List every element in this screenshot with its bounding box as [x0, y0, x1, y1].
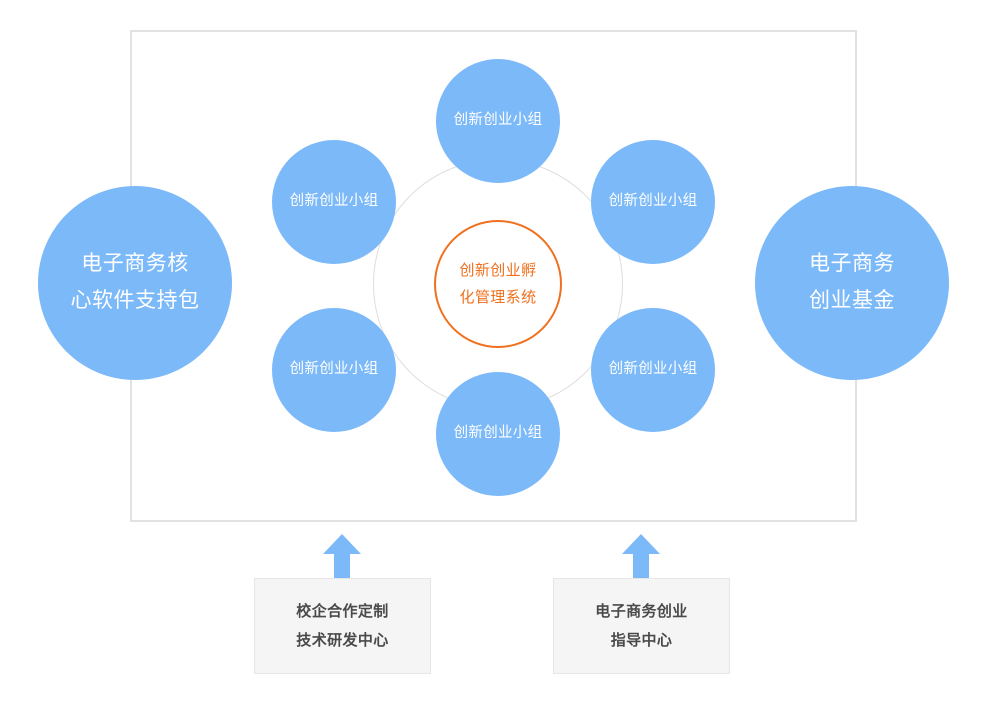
arrow-up-icon-right [622, 534, 660, 580]
diagram-canvas: 创新创业小组 创新创业小组 创新创业小组 创新创业小组 创新创业小组 创新创业小… [0, 0, 991, 705]
rnd-center-label-line2: 技术研发中心 [296, 632, 388, 649]
satellite-node-bottom-left[interactable]: 创新创业小组 [272, 308, 396, 432]
arrow-up-icon-left [323, 534, 361, 580]
satellite-node-top-right[interactable]: 创新创业小组 [591, 140, 715, 264]
rnd-center-box-label: 校企合作定制 技术研发中心 [278, 597, 408, 656]
rnd-center-label-line1: 校企合作定制 [296, 603, 388, 620]
satellite-node-top-left[interactable]: 创新创业小组 [272, 140, 396, 264]
startup-fund-label-line2: 创业基金 [809, 289, 895, 312]
startup-fund-node-label: 电子商务 创业基金 [777, 246, 927, 320]
guidance-center-label-line1: 电子商务创业 [595, 603, 687, 620]
startup-fund-node[interactable]: 电子商务 创业基金 [755, 186, 949, 380]
support-package-label-line1: 电子商务核 [81, 252, 189, 275]
support-package-label-line2: 心软件支持包 [71, 289, 200, 312]
satellite-node-bottom[interactable]: 创新创业小组 [436, 372, 560, 496]
satellite-node-top-right-label: 创新创业小组 [609, 191, 698, 212]
hub-node-label-line2: 化管理系统 [459, 289, 536, 306]
arrow-shaft-right [633, 552, 649, 580]
satellite-node-bottom-right[interactable]: 创新创业小组 [591, 308, 715, 432]
satellite-node-top-label: 创新创业小组 [454, 110, 543, 131]
satellite-node-top-left-label: 创新创业小组 [290, 191, 379, 212]
arrow-shaft-left [334, 552, 350, 580]
rnd-center-box[interactable]: 校企合作定制 技术研发中心 [254, 578, 431, 674]
hub-node-label: 创新创业孵 化管理系统 [450, 257, 546, 311]
support-package-node-label: 电子商务核 心软件支持包 [60, 246, 210, 320]
startup-fund-label-line1: 电子商务 [809, 252, 895, 275]
arrow-head-right [622, 534, 660, 554]
hub-node-label-line1: 创新创业孵 [459, 262, 536, 279]
satellite-node-bottom-label: 创新创业小组 [454, 423, 543, 444]
guidance-center-box[interactable]: 电子商务创业 指导中心 [553, 578, 730, 674]
guidance-center-box-label: 电子商务创业 指导中心 [577, 597, 707, 656]
support-package-node[interactable]: 电子商务核 心软件支持包 [38, 186, 232, 380]
satellite-node-top[interactable]: 创新创业小组 [436, 59, 560, 183]
satellite-node-bottom-left-label: 创新创业小组 [290, 359, 379, 380]
guidance-center-label-line2: 指导中心 [611, 632, 673, 649]
arrow-head-left [323, 534, 361, 554]
satellite-node-bottom-right-label: 创新创业小组 [609, 359, 698, 380]
hub-node[interactable]: 创新创业孵 化管理系统 [434, 220, 562, 348]
